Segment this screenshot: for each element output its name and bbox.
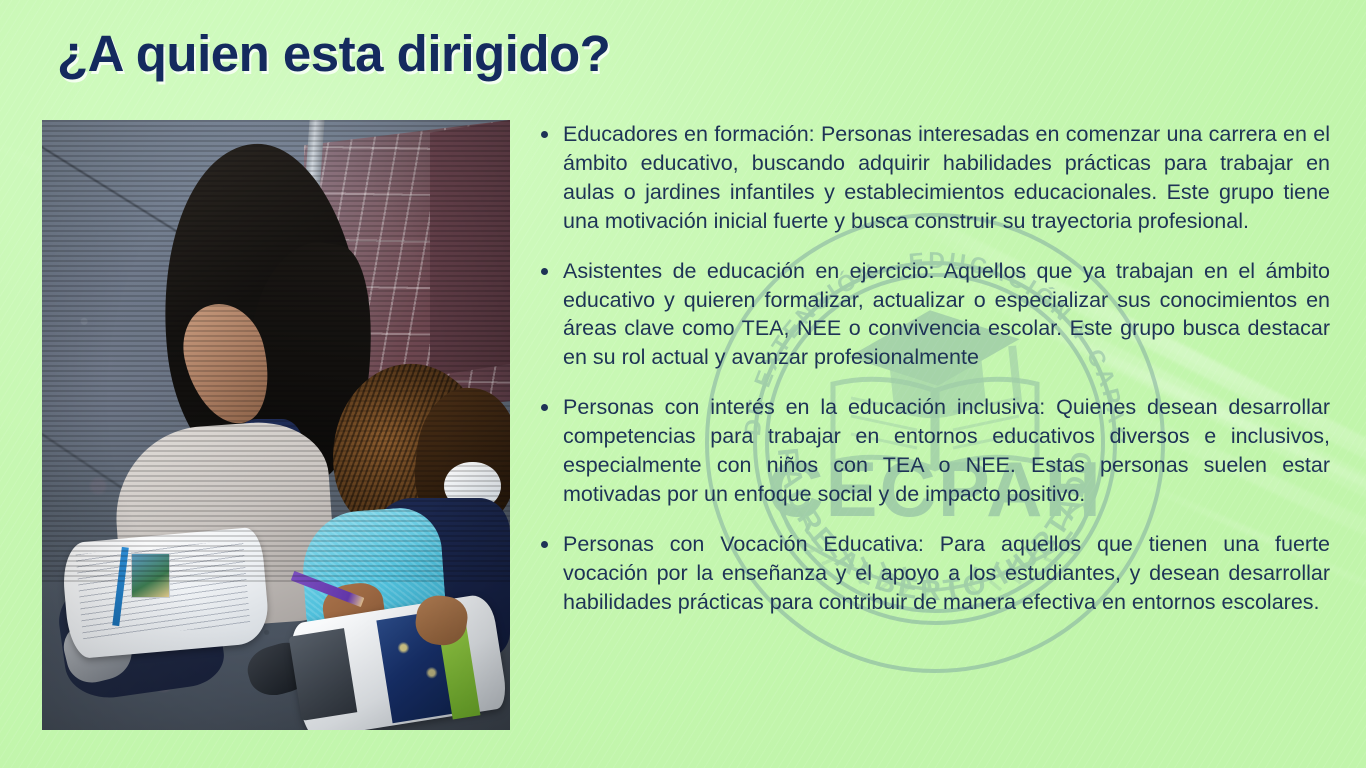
bullet-list: Educadores en formación: Personas intere…: [532, 120, 1330, 617]
bullet-text: Educadores en formación: Personas intere…: [563, 122, 1330, 233]
photo-illustration: [42, 120, 510, 730]
student-photo: [42, 120, 510, 730]
list-item: Personas con Vocación Educativa: Para aq…: [532, 530, 1330, 617]
list-item: Personas con interés en la educación inc…: [532, 393, 1330, 509]
brick-wall-shadow: [430, 120, 510, 377]
slide-canvas: CECPAH CENTRO DE EXTENSIÓN - EDUCACIÓN Y…: [0, 0, 1366, 768]
workbook-illustration: [131, 553, 170, 598]
content-column: Educadores en formación: Personas intere…: [532, 120, 1330, 617]
bullet-text: Personas con interés en la educación inc…: [563, 395, 1330, 506]
bullet-text: Personas con Vocación Educativa: Para aq…: [563, 532, 1330, 614]
list-item: Asistentes de educación en ejercicio: Aq…: [532, 257, 1330, 373]
bullet-text: Asistentes de educación en ejercicio: Aq…: [563, 259, 1330, 370]
page-title: ¿A quien esta dirigido?: [57, 26, 610, 81]
list-item: Educadores en formación: Personas intere…: [532, 120, 1330, 236]
